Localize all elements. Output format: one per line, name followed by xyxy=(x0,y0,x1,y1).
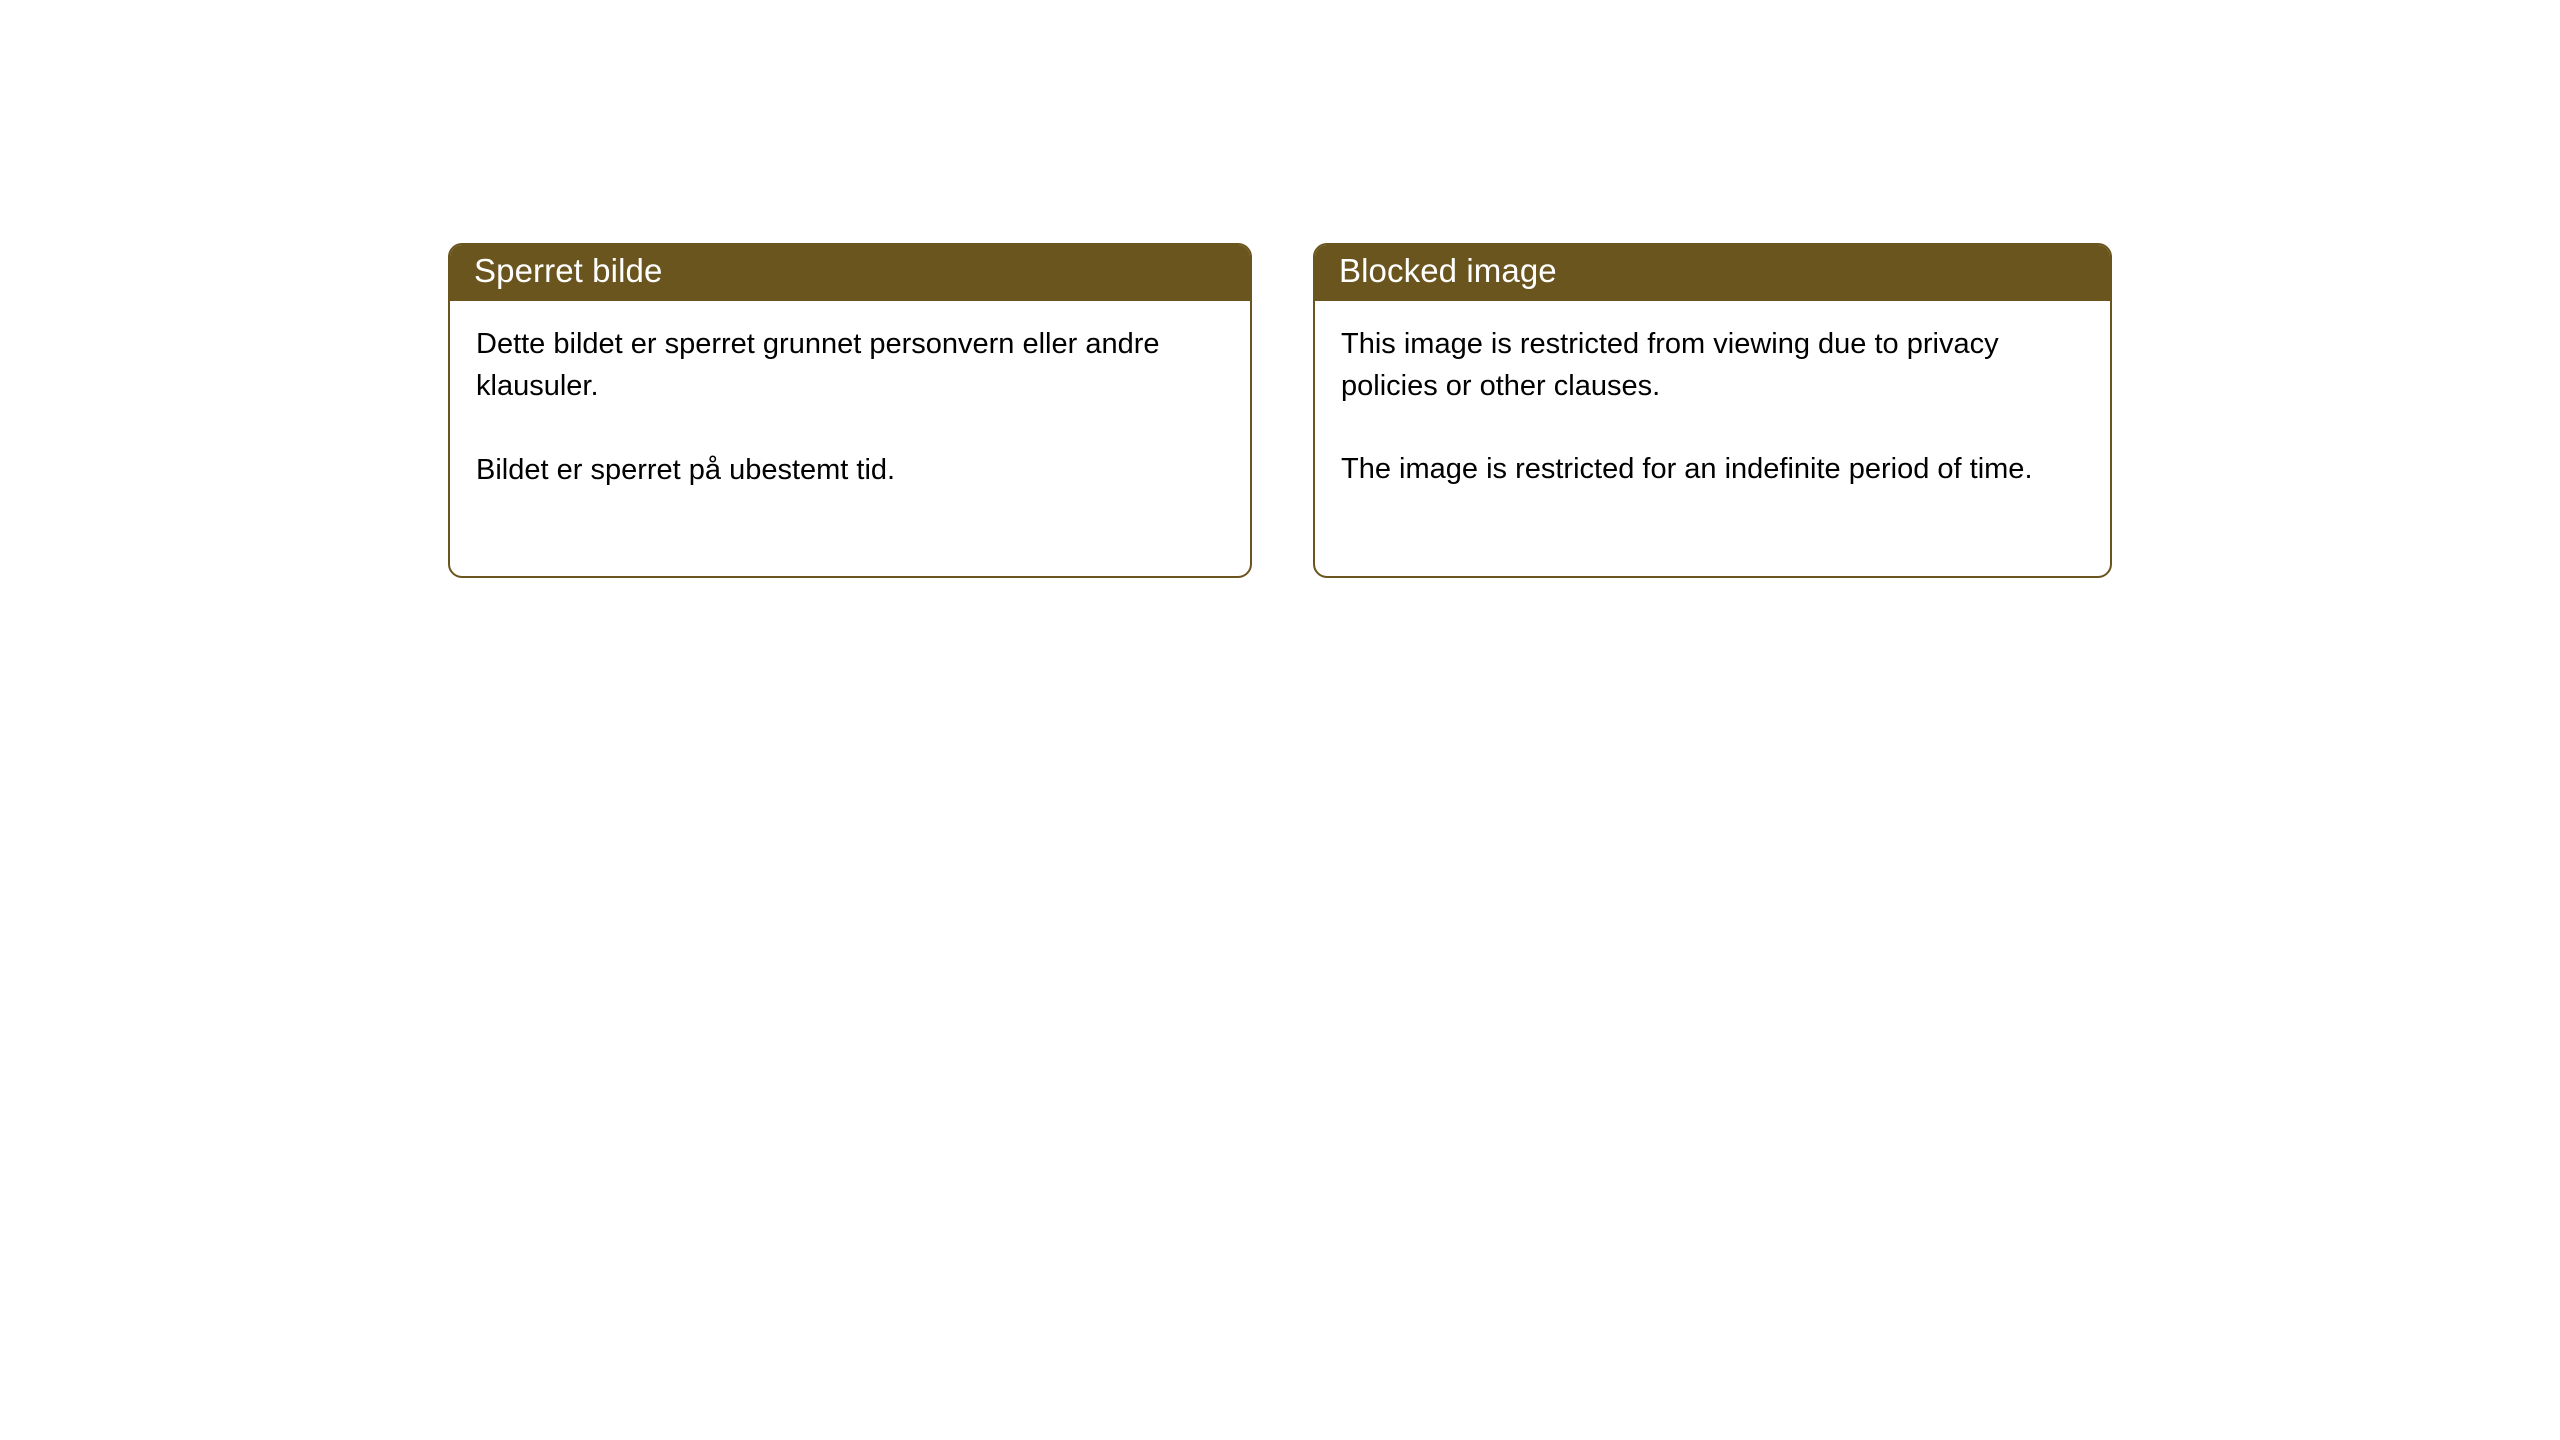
card-body-en: This image is restricted from viewing du… xyxy=(1315,301,2110,576)
blocked-image-notice-card-en: Blocked image This image is restricted f… xyxy=(1313,243,2112,578)
card-header-no: Sperret bilde xyxy=(448,243,1252,301)
card-title-no: Sperret bilde xyxy=(474,253,662,289)
card-paragraph-no-2: Bildet er sperret på ubestemt tid. xyxy=(476,449,1226,491)
card-header-en: Blocked image xyxy=(1313,243,2112,301)
card-paragraph-en-2: The image is restricted for an indefinit… xyxy=(1341,448,2086,490)
page-background: Sperret bilde Dette bildet er sperret gr… xyxy=(0,0,2560,1440)
blocked-image-notice-card-no: Sperret bilde Dette bildet er sperret gr… xyxy=(448,243,1252,578)
card-paragraph-en-1: This image is restricted from viewing du… xyxy=(1341,323,2086,407)
card-paragraph-no-1: Dette bildet er sperret grunnet personve… xyxy=(476,323,1226,407)
card-title-en: Blocked image xyxy=(1339,253,1557,289)
notice-card-row: Sperret bilde Dette bildet er sperret gr… xyxy=(448,243,2112,578)
card-body-no: Dette bildet er sperret grunnet personve… xyxy=(450,301,1250,576)
